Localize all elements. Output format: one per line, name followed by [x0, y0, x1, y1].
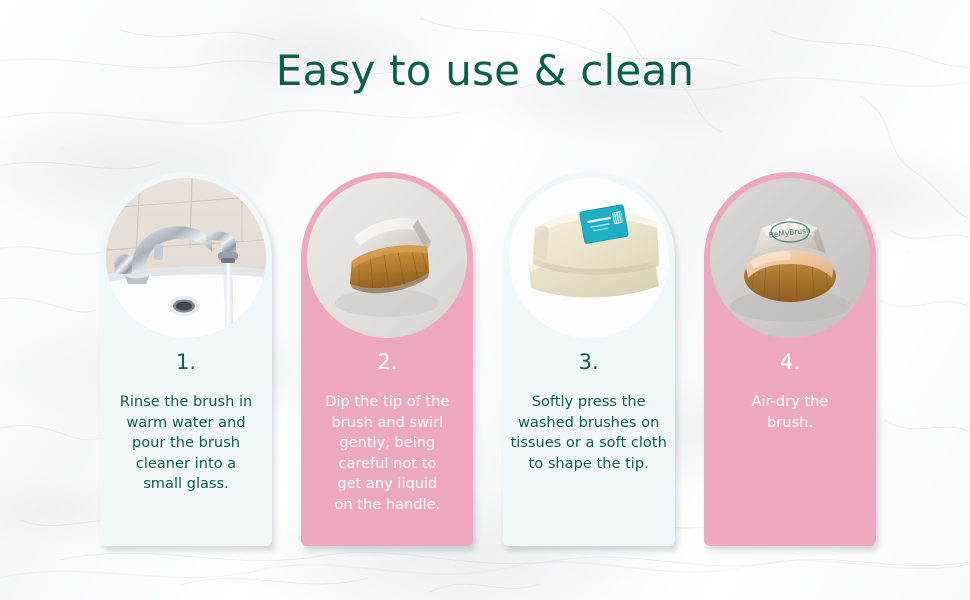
step-number: 4.: [704, 352, 876, 373]
step-number: 2.: [301, 352, 473, 373]
brush-drying-upright-photo: BeMyBrush: [710, 178, 870, 338]
folded-cream-towels-photo: [509, 178, 669, 338]
step-text: Rinse the brush in warm water and pour t…: [104, 392, 268, 495]
faucet-running-water-photo: [106, 178, 266, 338]
steps-card-row: 1. Rinse the brush in warm water and pou…: [100, 172, 876, 546]
page-title: Easy to use & clean: [0, 46, 970, 95]
step-text: Dip the tip of the brush and swirl gentl…: [305, 392, 469, 515]
brush-upright-illustration: BeMyBrush: [710, 178, 870, 338]
step-text: Softly press the washed brushes on tissu…: [507, 392, 671, 474]
step-text: Air-dry the brush.: [708, 392, 872, 433]
faucet-illustration: [106, 178, 266, 338]
step-number: 3.: [503, 352, 675, 373]
brush-illustration: [307, 178, 467, 338]
step-card-2[interactable]: 2. Dip the tip of the brush and swirl ge…: [301, 172, 473, 546]
step-card-3[interactable]: 3. Softly press the washed brushes on ti…: [503, 172, 675, 546]
makeup-brush-tilted-photo: [307, 178, 467, 338]
step-number: 1.: [100, 352, 272, 373]
towels-illustration: [509, 178, 669, 338]
step-card-4[interactable]: BeMyBrush 4. Air-dry the brush.: [704, 172, 876, 546]
step-card-1[interactable]: 1. Rinse the brush in warm water and pou…: [100, 172, 272, 546]
